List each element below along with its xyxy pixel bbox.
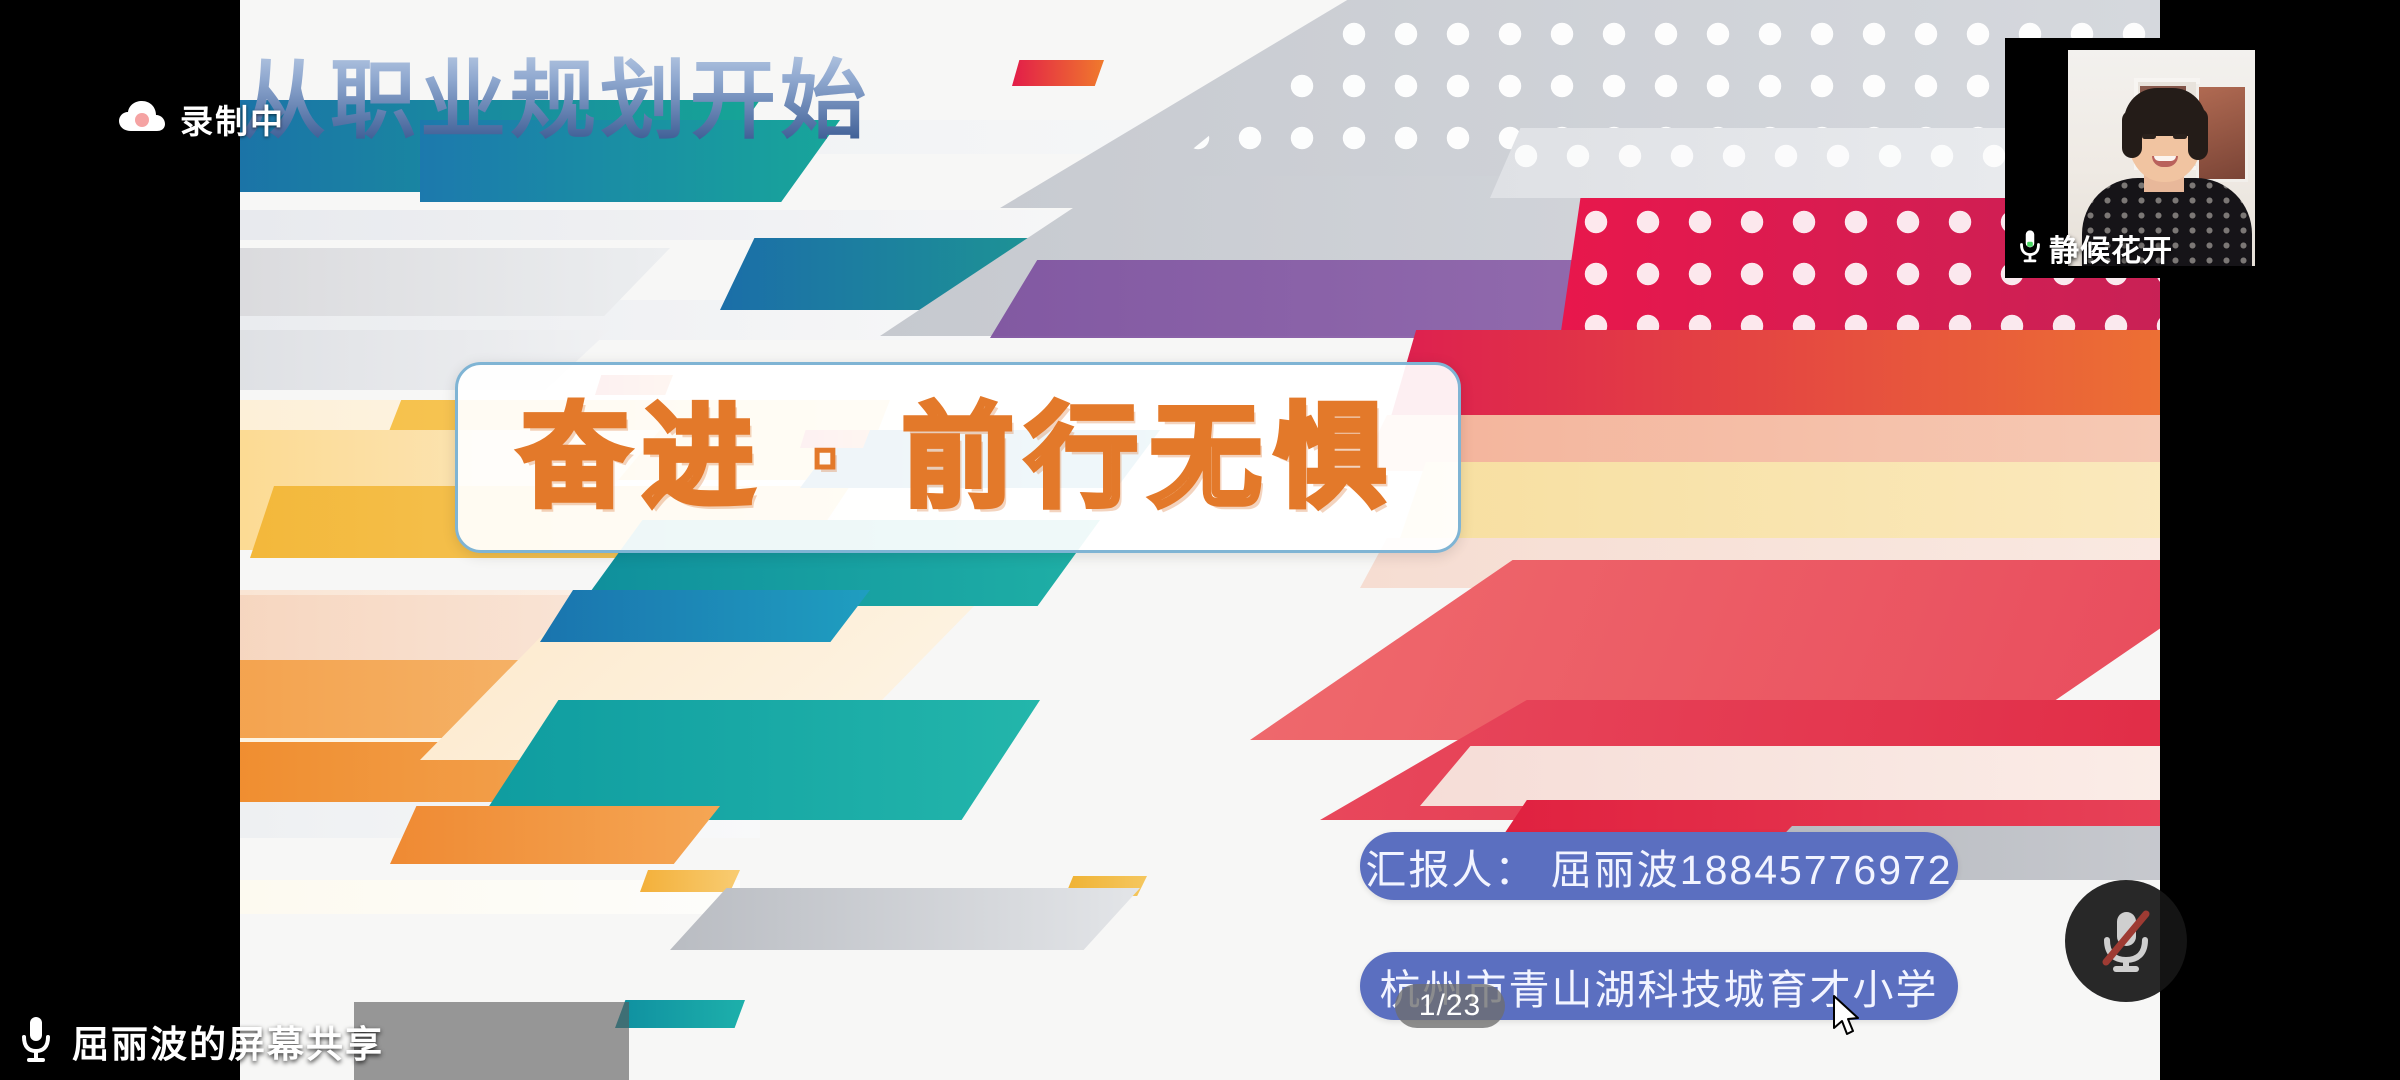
decor-parallelogram (540, 590, 870, 642)
participant-name: 静候花开 (2049, 226, 2173, 270)
decor-parallelogram (240, 248, 670, 316)
decor-chip (640, 870, 740, 892)
presenter-pill: 汇报人： 屈丽波18845776972 (1360, 832, 1958, 900)
participant-video-tile[interactable]: 静候花开 (2005, 38, 2255, 278)
slide-title-card: 奋进 · 前行无惧 (455, 362, 1461, 553)
cloud-record-icon (118, 100, 166, 139)
recording-label: 录制中 (180, 95, 285, 143)
page-indicator[interactable]: 1/23 (1395, 984, 1505, 1028)
share-label-scrim (354, 1002, 629, 1080)
decor-parallelogram (390, 806, 720, 864)
screen-share-label: 屈丽波的屏幕共享 (72, 1014, 384, 1068)
mouse-pointer-icon (1832, 994, 1862, 1043)
microphone-muted-icon (2094, 904, 2158, 979)
decor-chip (615, 1000, 745, 1028)
screen-share-status: 屈丽波的屏幕共享 (0, 1002, 390, 1080)
slide-headline: 从职业规划开始 (240, 30, 1120, 140)
decor-parallelogram (670, 888, 1140, 950)
decor-parallelogram (480, 700, 1040, 820)
microphone-icon (18, 1015, 54, 1068)
microphone-icon (2017, 229, 2043, 268)
mute-toggle-button[interactable] (2065, 880, 2187, 1002)
participant-name-badge: 静候花开 (2017, 226, 2173, 270)
screen-share-viewer: 从职业规划开始 奋进 · 前行无惧 汇报人： 屈丽波18845776972 杭州… (0, 0, 2400, 1080)
decor-parallelogram (1390, 330, 2160, 420)
decor-parallelogram (1400, 462, 2160, 538)
recording-indicator: 录制中 (118, 95, 285, 143)
decor-band (240, 210, 1140, 240)
shared-slide: 从职业规划开始 奋进 · 前行无惧 汇报人： 屈丽波18845776972 杭州… (240, 0, 2160, 1080)
decor-parallelogram (1420, 746, 2160, 806)
slide-title: 奋进 · 前行无惧 (518, 402, 1398, 514)
